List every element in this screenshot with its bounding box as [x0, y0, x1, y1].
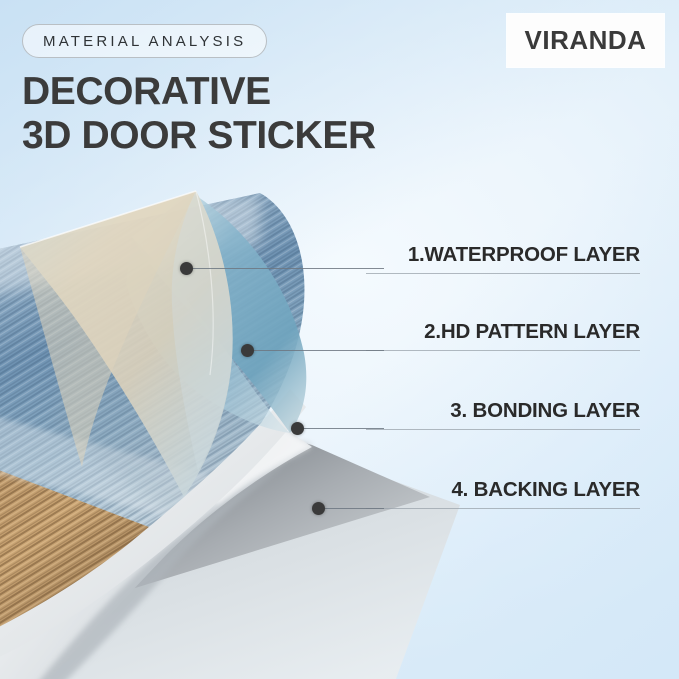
callout-rule-2 — [366, 350, 640, 351]
callout-label-1: 1.WATERPROOF LAYER — [366, 245, 640, 266]
callout-bonding: 3. BONDING LAYER — [366, 401, 640, 430]
brand-logo-text: VIRANDA — [525, 25, 647, 56]
callout-waterproof: 1.WATERPROOF LAYER — [366, 245, 640, 274]
callout-label-2: 2.HD PATTERN LAYER — [366, 322, 640, 343]
callout-rule-3 — [366, 429, 640, 430]
callout-rule-1 — [366, 273, 640, 274]
anchor-dot-backing — [312, 502, 325, 515]
leader-line-3 — [303, 428, 384, 429]
title-line-1: DECORATIVE — [22, 70, 271, 113]
leader-line-1 — [192, 268, 384, 269]
callout-backing: 4. BACKING LAYER — [366, 480, 640, 509]
leader-line-2 — [253, 350, 384, 351]
leader-line-4 — [324, 508, 384, 509]
title-line-2: 3D DOOR STICKER — [22, 114, 376, 158]
anchor-dot-waterproof — [180, 262, 193, 275]
anchor-dot-hd-pattern — [241, 344, 254, 357]
callout-label-4: 4. BACKING LAYER — [366, 480, 640, 501]
page-title: DECORATIVE 3D DOOR STICKER — [22, 70, 376, 159]
infographic-canvas: MATERIAL ANALYSIS DECORATIVE 3D DOOR STI… — [0, 0, 679, 679]
section-badge: MATERIAL ANALYSIS — [22, 24, 267, 58]
callout-label-3: 3. BONDING LAYER — [366, 401, 640, 422]
callout-hd-pattern: 2.HD PATTERN LAYER — [366, 322, 640, 351]
callout-rule-4 — [366, 508, 640, 509]
brand-logo: VIRANDA — [507, 14, 664, 67]
anchor-dot-bonding — [291, 422, 304, 435]
